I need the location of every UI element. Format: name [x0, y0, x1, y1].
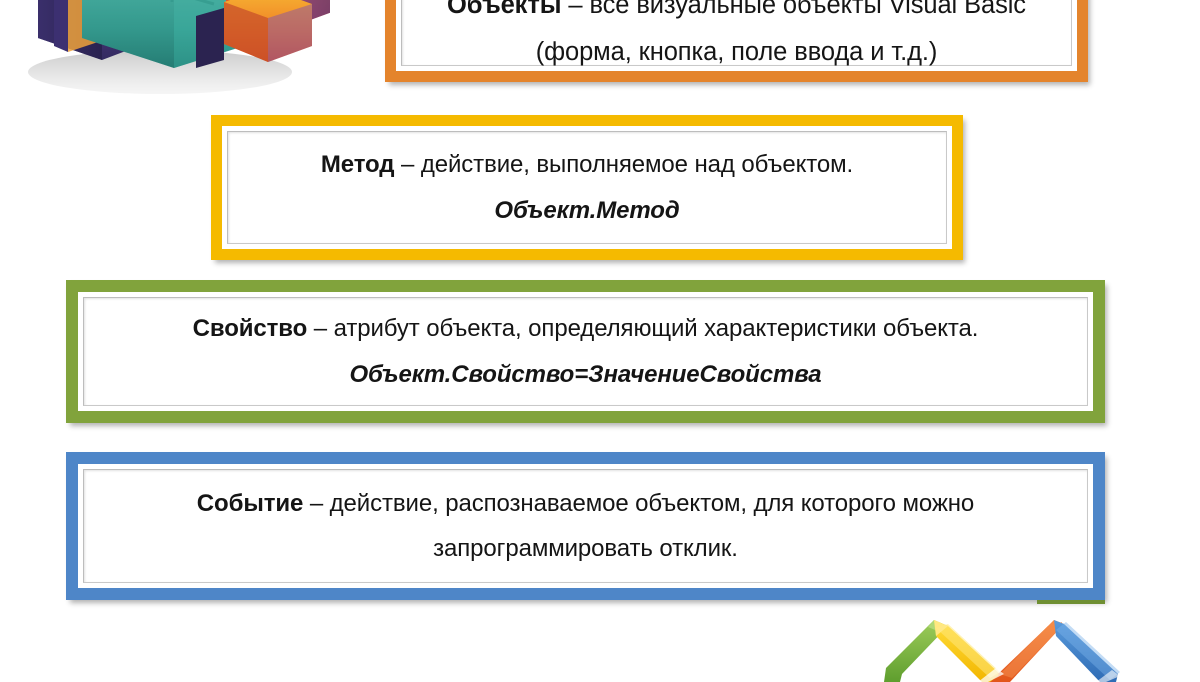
objects-definition-text: все визуальные объекты Visual Basic	[589, 0, 1026, 19]
callout-box-method-inner: Метод – действие, выполняемое над объект…	[227, 131, 947, 244]
event-definition-text: действие, распознаваемое объектом, для к…	[330, 490, 975, 517]
callout-box-event-inner: Событие – действие, распознаваемое объек…	[83, 469, 1088, 583]
callout-box-method: Метод – действие, выполняемое над объект…	[211, 115, 963, 260]
event-definition-line1: Событие – действие, распознаваемое объек…	[197, 488, 974, 519]
method-dash: –	[394, 151, 420, 178]
callout-box-objects-inner: Объекты – все визуальные объекты Visual …	[401, 0, 1072, 66]
event-definition-line2: запрограммировать отклик.	[433, 533, 738, 564]
callout-box-event: Событие – действие, распознаваемое объек…	[66, 452, 1105, 600]
method-term: Метод	[321, 151, 395, 178]
chevron-m-logo	[878, 612, 1130, 682]
property-term: Свойство	[193, 315, 308, 342]
objects-definition-line2: (форма, кнопка, поле ввода и т.д.)	[536, 36, 938, 69]
callout-box-property: Свойство – атрибут объекта, определяющий…	[66, 280, 1105, 423]
property-syntax-formula: Объект.Свойство=ЗначениеСвойства	[349, 359, 821, 390]
property-dash: –	[307, 315, 333, 342]
callout-box-objects: Объекты – все визуальные объекты Visual …	[385, 0, 1088, 82]
method-definition-line1: Метод – действие, выполняемое над объект…	[321, 149, 853, 180]
property-definition-line1: Свойство – атрибут объекта, определяющий…	[193, 313, 979, 344]
callout-box-property-inner: Свойство – атрибут объекта, определяющий…	[83, 297, 1088, 406]
property-definition-text: атрибут объекта, определяющий характерис…	[334, 315, 979, 342]
slide-canvas: Объекты – все визуальные объекты Visual …	[0, 0, 1200, 675]
objects-definition-line1: Объекты – все визуальные объекты Visual …	[447, 0, 1026, 22]
objects-term: Объекты	[447, 0, 561, 19]
logo-divider-rule	[1037, 600, 1105, 604]
objects-dash: –	[561, 0, 589, 19]
method-definition-text: действие, выполняемое над объектом.	[421, 151, 853, 178]
event-term: Событие	[197, 490, 303, 517]
event-dash: –	[303, 490, 329, 517]
isometric-3d-blocks-clipart	[10, 0, 330, 97]
method-syntax-formula: Объект.Метод	[494, 195, 679, 226]
